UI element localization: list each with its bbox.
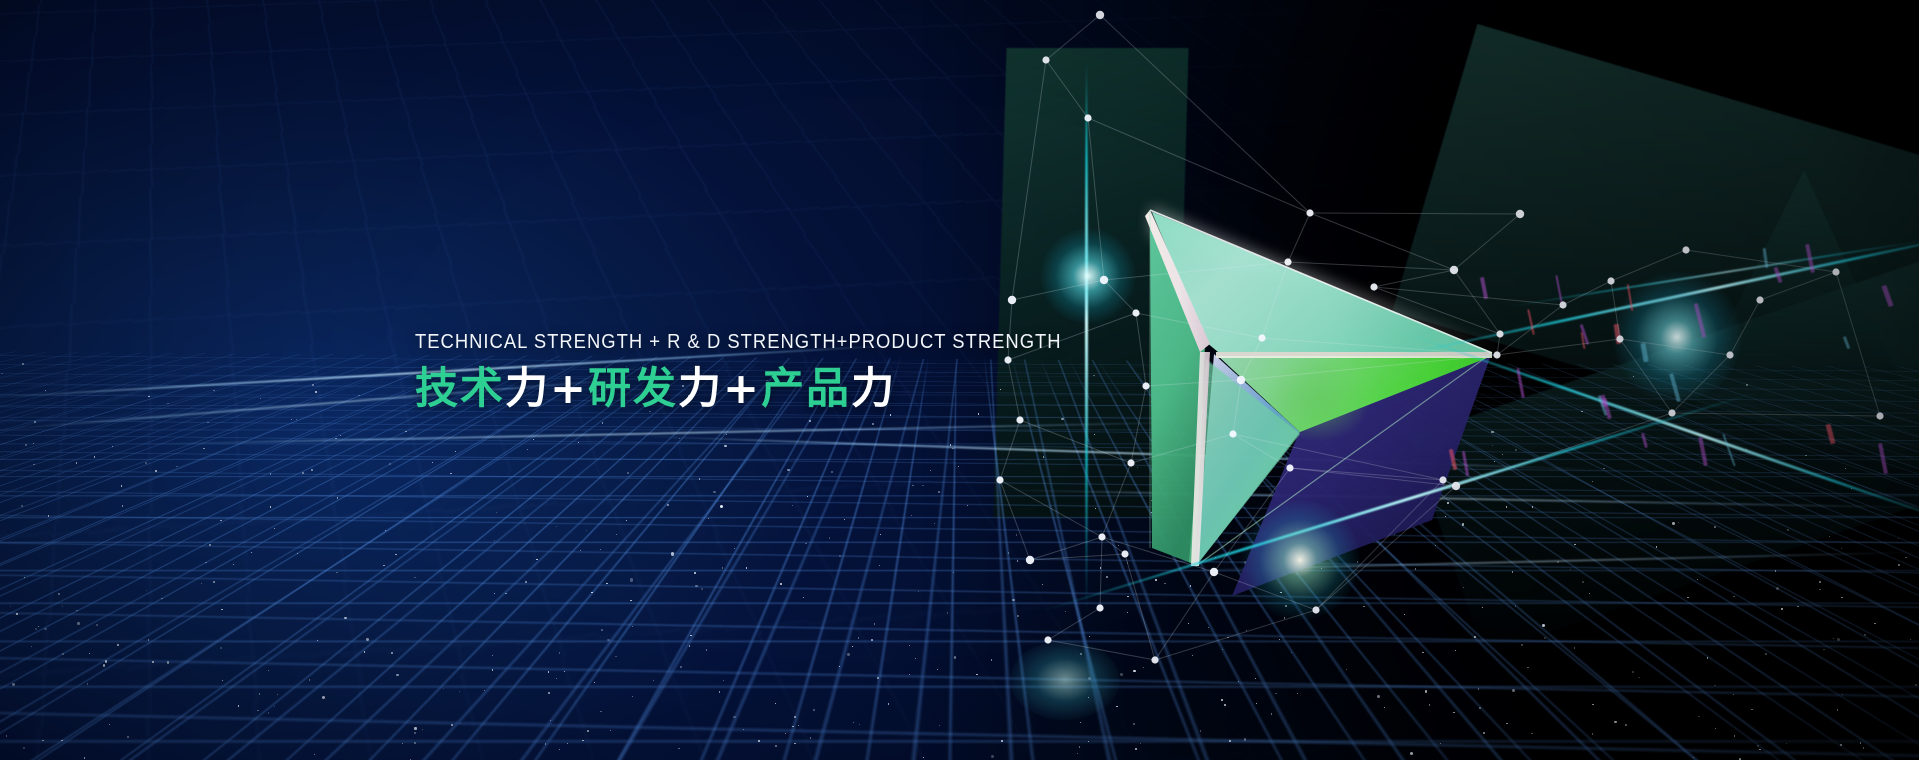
particle-dot	[1215, 557, 1216, 558]
particle-dot	[1410, 752, 1413, 755]
network-link	[1288, 213, 1310, 262]
particle-dot	[203, 448, 204, 449]
particle-dot	[405, 431, 406, 432]
particle-dot	[671, 552, 674, 555]
particle-dot	[1715, 728, 1716, 729]
particle-dot	[1012, 599, 1014, 601]
particle-dot	[1678, 522, 1679, 523]
particle-dot	[1746, 384, 1747, 385]
particle-dot	[1439, 444, 1440, 445]
particle-dot	[161, 598, 162, 599]
particle-dot	[1581, 411, 1582, 412]
network-link	[1316, 486, 1456, 610]
particle-dot	[1479, 707, 1481, 709]
headline-chinese-segment-5: 力	[851, 364, 896, 414]
particle-dot	[591, 592, 592, 593]
particle-dot	[1106, 576, 1108, 578]
network-link	[1620, 339, 1672, 413]
particle-dot	[1805, 455, 1806, 456]
particle-dot	[1482, 607, 1483, 608]
particle-dot	[1445, 516, 1446, 517]
particle-dot	[1787, 529, 1788, 530]
particle-dot	[1080, 653, 1082, 655]
network-link	[1136, 313, 1146, 386]
particle-dot	[76, 610, 77, 611]
particle-dot	[1357, 561, 1358, 562]
particle-dot	[45, 390, 46, 391]
particle-dot	[559, 652, 560, 653]
particle-dot	[1440, 743, 1441, 744]
prism-outline-bottom	[1196, 353, 1492, 566]
particle-dot	[872, 423, 874, 425]
particle-dot	[1189, 377, 1191, 379]
particle-dot	[1338, 462, 1339, 463]
particle-dot	[161, 545, 162, 546]
headline-chinese-segment-0: 技术	[415, 364, 505, 414]
particle-dot	[205, 562, 206, 563]
network-link	[1155, 572, 1214, 660]
network-link	[1000, 480, 1030, 560]
particle-dot	[1377, 695, 1380, 698]
particle-dot	[450, 473, 451, 474]
network-node	[1726, 351, 1733, 358]
particle-dot	[340, 435, 341, 436]
particle-dot	[152, 661, 153, 662]
particle-dot	[852, 646, 853, 647]
particle-dot	[775, 703, 776, 704]
chromatic-speck	[1843, 336, 1851, 349]
particle-dot	[62, 653, 63, 654]
particle-dot	[1707, 657, 1708, 658]
particle-dot	[888, 703, 889, 704]
particle-dot	[1089, 636, 1090, 637]
particle-dot	[1281, 456, 1282, 457]
particle-dot	[1016, 534, 1017, 535]
particle-dot	[422, 729, 423, 730]
particle-dot	[1531, 733, 1532, 734]
particle-dot	[798, 725, 799, 726]
particle-dot	[567, 743, 568, 744]
particle-dot	[61, 740, 62, 741]
particle-dot	[127, 736, 128, 737]
particle-dot	[1672, 522, 1675, 525]
particle-dot	[315, 391, 316, 392]
particle-dot	[1246, 630, 1247, 631]
network-link	[1155, 610, 1316, 660]
particle-dot	[1860, 742, 1861, 743]
chromatic-speck	[1722, 434, 1735, 467]
particle-dot	[1297, 693, 1298, 694]
particle-dot	[1733, 694, 1734, 695]
network-node	[1450, 266, 1458, 274]
particle-dot	[587, 730, 589, 732]
hero-banner: TECHNICAL STRENGTH + R & D STRENGTH+PROD…	[0, 0, 1919, 760]
particle-dot	[1404, 614, 1405, 615]
chromatic-speck	[1698, 437, 1707, 466]
particle-dot	[1280, 592, 1281, 593]
prism-inner-glow	[1266, 358, 1370, 442]
particle-dot	[1574, 647, 1575, 648]
network-node	[1258, 334, 1265, 341]
chromatic-speck	[1600, 395, 1608, 408]
particle-dot	[121, 485, 122, 486]
particle-dot	[492, 655, 493, 656]
particle-dot	[391, 652, 393, 654]
particle-dot	[1478, 688, 1479, 689]
particle-dot	[1095, 508, 1096, 509]
particle-dot	[785, 733, 786, 734]
particle-dot	[1841, 548, 1842, 549]
particle-dot	[1229, 740, 1230, 741]
particle-dot	[35, 628, 37, 630]
particle-dot	[1391, 476, 1392, 477]
particle-dot	[1898, 538, 1899, 539]
particle-dot	[1278, 401, 1279, 402]
particle-dot	[1734, 735, 1735, 736]
particle-dot	[33, 464, 34, 465]
network-link	[1241, 338, 1262, 380]
particle-dot	[1786, 743, 1787, 744]
particle-dot	[810, 737, 811, 738]
particle-dot	[451, 724, 453, 726]
particle-dot	[494, 540, 495, 541]
particle-dot	[1515, 605, 1516, 606]
network-node	[1559, 301, 1566, 308]
particle-dot	[1863, 747, 1864, 748]
particle-dot	[268, 712, 269, 713]
particle-dot	[726, 434, 727, 435]
particle-dot	[25, 444, 26, 445]
particle-dot	[689, 645, 690, 646]
particle-dot	[953, 572, 954, 573]
particle-dot	[1384, 707, 1385, 708]
network-link	[1672, 355, 1730, 413]
chromatic-speck	[1480, 277, 1488, 299]
lens-flare	[1240, 500, 1360, 620]
particle-dot	[743, 729, 744, 730]
particle-dot	[1256, 703, 1257, 704]
network-node	[1616, 335, 1623, 342]
particle-dot	[1255, 678, 1256, 679]
particle-dot	[6, 735, 7, 736]
prism-outline-top	[1150, 210, 1492, 353]
particle-dot	[794, 743, 795, 744]
network-node	[1756, 296, 1763, 303]
particle-dot	[958, 466, 959, 467]
particle-dot	[31, 646, 32, 647]
particle-dot	[322, 696, 325, 699]
particle-dot	[1757, 745, 1758, 746]
particle-dot	[1474, 636, 1475, 637]
prism-top-edge-glow	[1150, 206, 1500, 352]
network-link	[1102, 463, 1131, 537]
network-node	[1096, 604, 1103, 611]
particle-dot	[1819, 589, 1820, 590]
particle-dot	[934, 523, 935, 524]
particle-dot	[364, 651, 365, 652]
prism-facet-top	[1152, 212, 1492, 352]
network-link	[1214, 468, 1290, 572]
particle-dot	[251, 552, 252, 553]
particle-dot	[1200, 730, 1201, 731]
particle-dot	[877, 677, 879, 679]
particle-dot	[890, 414, 891, 415]
network-link	[1497, 305, 1563, 355]
particle-dot	[1291, 652, 1292, 653]
particle-dot	[1632, 671, 1634, 673]
particle-dot	[1244, 738, 1246, 740]
particle-dot	[44, 628, 46, 630]
network-link	[1104, 262, 1288, 280]
particle-dot	[432, 462, 433, 463]
network-node	[996, 476, 1003, 483]
chromatic-speck	[1640, 343, 1648, 363]
particle-dot	[145, 462, 147, 464]
particle-dot	[1116, 706, 1117, 707]
particle-dot	[23, 747, 25, 749]
network-node	[1876, 412, 1883, 419]
particle-dot	[22, 363, 24, 365]
network-link	[1048, 640, 1155, 660]
particle-dot	[630, 600, 631, 601]
particle-dot	[1781, 608, 1782, 609]
particle-dot	[1388, 528, 1390, 530]
particle-dot	[443, 688, 444, 689]
network-link	[1012, 60, 1046, 300]
network-link	[1262, 338, 1497, 355]
particle-dot	[1841, 597, 1842, 598]
network-link	[1146, 380, 1241, 386]
particle-dot	[556, 526, 557, 527]
particle-dot	[335, 438, 336, 439]
chromatic-speck	[1527, 309, 1535, 335]
particle-dot	[880, 534, 881, 535]
particle-dot	[1759, 749, 1760, 750]
particle-dot	[1118, 545, 1119, 546]
network-link	[1214, 572, 1316, 610]
particle-dot	[1094, 434, 1095, 435]
particle-dot	[117, 644, 118, 645]
particle-dot	[1837, 638, 1840, 641]
network-link	[1030, 537, 1102, 560]
particle-dot	[96, 624, 98, 626]
particle-dot	[109, 724, 110, 725]
particle-dot	[1797, 606, 1798, 607]
particle-dot	[847, 653, 850, 656]
network-link	[1836, 272, 1880, 416]
particle-dot	[1238, 681, 1239, 682]
particle-dot	[1268, 415, 1269, 416]
particle-dot	[564, 671, 565, 672]
network-node	[1237, 376, 1245, 384]
lens-flare	[1612, 272, 1742, 402]
particle-dot	[1088, 697, 1089, 698]
particle-dot	[1296, 527, 1298, 529]
particle-dot	[77, 622, 79, 624]
prism-facet-right	[1218, 356, 1492, 432]
particle-dot	[1155, 579, 1156, 580]
particle-dot	[1687, 597, 1688, 598]
network-link	[1374, 287, 1563, 305]
particle-dot	[311, 469, 313, 471]
particle-dot	[233, 564, 234, 565]
particle-dot	[1494, 461, 1495, 462]
prism-facet-left	[1150, 212, 1205, 565]
network-node	[1127, 459, 1134, 466]
particle-dot	[1512, 571, 1513, 572]
network-link	[1046, 60, 1088, 118]
chromatic-speck	[1773, 267, 1782, 283]
light-streak-diagonal	[1036, 389, 1764, 614]
particle-dot	[809, 420, 810, 421]
particle-dot	[1244, 561, 1247, 564]
particle-dot	[505, 593, 506, 594]
particle-dot	[690, 635, 691, 636]
particle-dot	[1008, 552, 1009, 553]
particle-dot	[630, 578, 633, 581]
particle-dot	[1697, 579, 1698, 580]
particle-dot	[389, 463, 391, 465]
particle-dot	[911, 515, 912, 516]
network-link	[1456, 413, 1672, 486]
particle-dot	[1363, 606, 1364, 607]
particle-dot	[1211, 500, 1212, 501]
particle-dot	[616, 534, 617, 535]
particle-dot	[1532, 506, 1533, 507]
particle-dot	[930, 470, 931, 471]
particle-dot	[678, 748, 679, 749]
network-link	[1374, 270, 1454, 287]
network-node	[1008, 296, 1016, 304]
headline-block: TECHNICAL STRENGTH + R & D STRENGTH+PROD…	[415, 332, 1115, 412]
network-node	[1026, 556, 1034, 564]
chromatic-speck	[1881, 285, 1893, 307]
particle-dot	[1321, 568, 1322, 569]
particle-dot	[922, 485, 923, 486]
particle-dot	[148, 639, 149, 640]
particle-dot	[1224, 704, 1226, 706]
particle-dot	[337, 497, 338, 498]
particle-dot	[548, 692, 550, 694]
particle-dot	[1455, 650, 1456, 651]
particle-dot	[536, 559, 537, 560]
wave-crest-line	[980, 489, 1919, 510]
particle-dot	[1544, 637, 1546, 639]
particle-dot	[1746, 449, 1747, 450]
particle-dot	[550, 720, 551, 721]
chromatic-speck	[1581, 332, 1586, 349]
particle-dot	[1127, 612, 1128, 613]
particle-dot	[274, 528, 275, 529]
network-node	[1210, 568, 1218, 576]
particle-dot	[1140, 743, 1141, 744]
chromatic-speck	[1878, 443, 1888, 474]
particle-dot	[1285, 443, 1286, 444]
particle-dot	[909, 645, 910, 646]
network-link	[1730, 300, 1760, 355]
particle-dot	[105, 660, 107, 662]
network-link	[1686, 250, 1836, 272]
network-node	[1121, 550, 1128, 557]
headline-chinese-segment-1: 力+	[505, 364, 588, 414]
network-link	[1104, 280, 1136, 313]
particle-dot	[626, 520, 627, 521]
particle-dot	[879, 565, 880, 566]
particle-dot	[594, 682, 595, 683]
particle-dot	[871, 639, 873, 641]
particle-dot	[336, 572, 337, 573]
particle-dot	[148, 396, 149, 397]
particle-dot	[16, 613, 17, 614]
chromatic-speck	[1763, 248, 1769, 268]
particle-dot	[844, 519, 845, 520]
particle-dot	[455, 451, 456, 452]
particle-dot	[268, 670, 269, 671]
particle-dot	[1910, 639, 1911, 640]
network-link	[1316, 480, 1443, 610]
particle-dot	[939, 725, 940, 726]
particle-dot	[33, 443, 34, 444]
particle-dot	[923, 757, 924, 758]
particle-dot	[48, 515, 49, 516]
network-link	[1125, 554, 1155, 660]
particle-dot	[1592, 704, 1593, 705]
network-node	[1284, 258, 1291, 265]
particle-dot	[699, 478, 700, 479]
particle-dot	[1589, 593, 1590, 594]
particle-dot	[1151, 512, 1152, 513]
particle-dot	[207, 422, 208, 423]
particle-dot	[1017, 615, 1018, 616]
particle-dot	[734, 548, 735, 549]
particle-dot	[805, 543, 806, 544]
particle-dot	[1775, 570, 1776, 571]
particle-dot	[34, 421, 36, 423]
particle-dot	[909, 674, 910, 675]
network-link	[1497, 334, 1500, 355]
particle-dot	[1192, 655, 1193, 656]
particle-dot	[1120, 673, 1123, 676]
particle-dot	[201, 583, 202, 584]
particle-dot	[1001, 740, 1002, 741]
network-node	[1682, 246, 1689, 253]
particle-dot	[222, 680, 223, 681]
particle-dot	[695, 585, 697, 587]
particle-dot	[1633, 376, 1634, 377]
network-link	[1443, 480, 1456, 486]
particle-dot	[312, 384, 314, 386]
particle-dot	[967, 505, 968, 506]
particle-dot	[1279, 639, 1280, 640]
particle-dot	[1284, 617, 1285, 618]
network-link	[1262, 262, 1288, 338]
particle-dot	[775, 745, 777, 747]
particle-dot	[978, 413, 979, 414]
particle-dot	[1222, 649, 1223, 650]
particle-dot	[1435, 477, 1436, 478]
network-node	[1607, 277, 1614, 284]
particle-dot	[209, 544, 210, 545]
particle-dot	[396, 674, 398, 676]
particle-dot	[1415, 568, 1416, 569]
particle-dot	[414, 732, 415, 733]
particle-dot	[1394, 534, 1395, 535]
particle-dot	[12, 683, 15, 686]
particle-dot	[1135, 748, 1136, 749]
particle-dot	[460, 723, 461, 724]
dark-band-plane-lower	[1409, 235, 1919, 654]
network-link	[1233, 434, 1443, 480]
